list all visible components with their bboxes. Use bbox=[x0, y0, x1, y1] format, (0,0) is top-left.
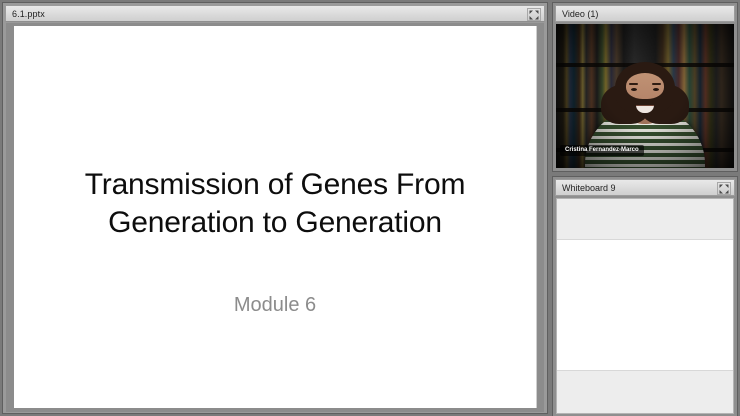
slide-panel: 6.1.pptx Transmission of Genes From Gene… bbox=[2, 2, 548, 414]
video-panel-title: Video (1) bbox=[562, 8, 598, 21]
whiteboard-canvas[interactable] bbox=[557, 240, 733, 370]
whiteboard-panel-title: Whiteboard 9 bbox=[562, 182, 616, 195]
video-panel: Video (1) Cristina Fernandez-Marco bbox=[552, 2, 738, 172]
whiteboard-expand-button[interactable] bbox=[717, 182, 731, 195]
whiteboard-panel: Whiteboard 9 bbox=[552, 176, 738, 416]
video-feed[interactable]: Cristina Fernandez-Marco bbox=[556, 24, 734, 168]
presentation-session-window: 6.1.pptx Transmission of Genes From Gene… bbox=[0, 0, 740, 416]
right-sidebar: Video (1) Cristina Fernandez-Marco bbox=[552, 0, 740, 416]
whiteboard-body bbox=[556, 198, 734, 414]
expand-fullscreen-icon bbox=[719, 184, 729, 194]
slide-canvas[interactable]: Transmission of Genes From Generation to… bbox=[14, 26, 537, 408]
slide-frame: Transmission of Genes From Generation to… bbox=[6, 23, 544, 412]
whiteboard-panel-titlebar[interactable]: Whiteboard 9 bbox=[555, 179, 735, 196]
whiteboard-bottom-strip bbox=[557, 370, 733, 413]
slide-title-text: Transmission of Genes From Generation to… bbox=[14, 166, 536, 242]
slide-panel-titlebar[interactable]: 6.1.pptx bbox=[5, 5, 545, 22]
video-panel-titlebar[interactable]: Video (1) bbox=[555, 5, 735, 22]
participant-name-label: Cristina Fernandez-Marco bbox=[560, 145, 644, 156]
whiteboard-top-strip bbox=[557, 199, 733, 240]
expand-fullscreen-icon bbox=[529, 10, 539, 20]
slide-expand-button[interactable] bbox=[527, 8, 541, 21]
slide-subtitle-text: Module 6 bbox=[14, 292, 536, 318]
slide-panel-title: 6.1.pptx bbox=[12, 8, 45, 21]
